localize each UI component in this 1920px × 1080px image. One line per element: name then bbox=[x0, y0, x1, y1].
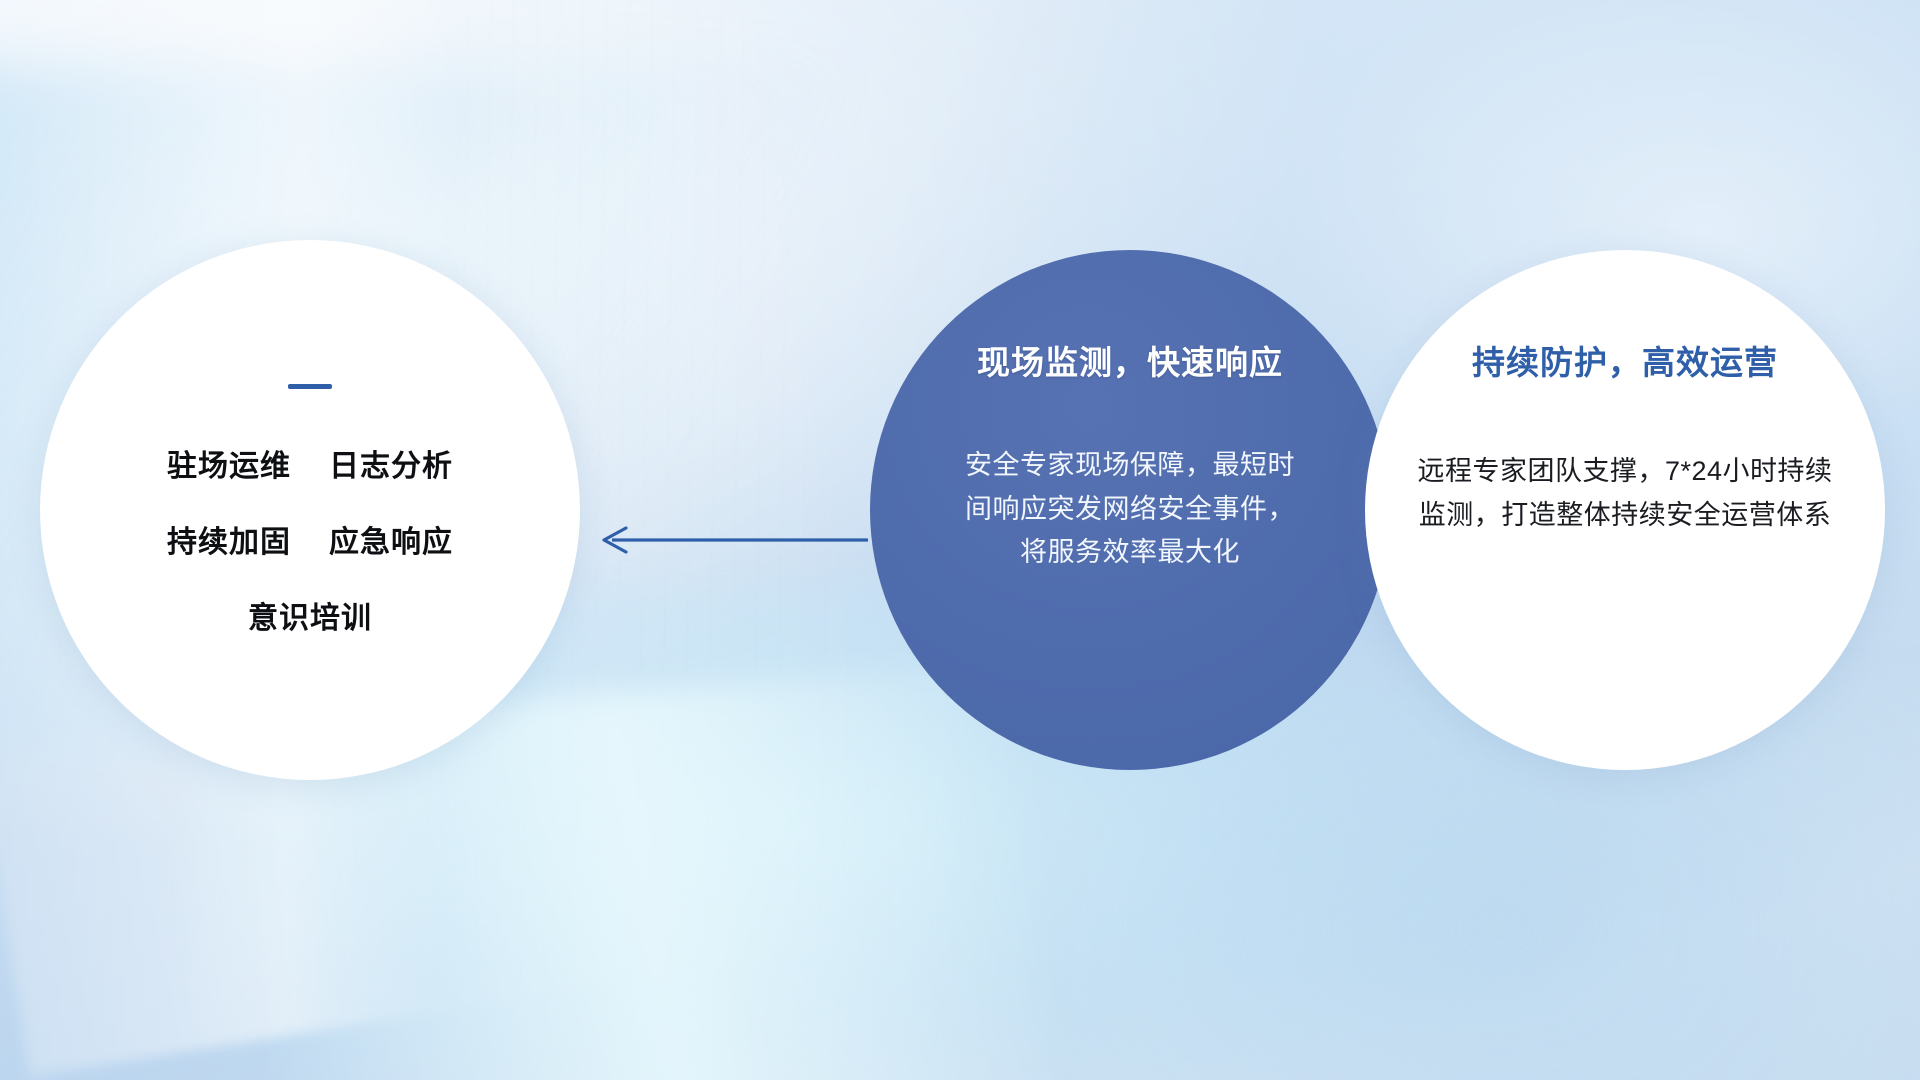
center-circle-body: 安全专家现场保障，最短时间响应突发网络安全事件，将服务效率最大化 bbox=[965, 444, 1295, 575]
keyword-item: 意识培训 bbox=[248, 593, 372, 637]
keyword-item: 应急响应 bbox=[329, 517, 453, 561]
keyword-row: 意识培训 bbox=[248, 593, 372, 637]
right-circle-body: 远程专家团队支撑，7*24小时持续监测，打造整体持续安全运营体系 bbox=[1415, 450, 1835, 537]
keyword-row: 驻场运维 日志分析 bbox=[167, 441, 453, 485]
diagram-stage: 驻场运维 日志分析 持续加固 应急响应 意识培训 现场监测，快速响应 安全专家现… bbox=[0, 0, 1920, 1080]
keyword-row: 持续加固 应急响应 bbox=[167, 517, 453, 561]
keyword-item: 驻场运维 bbox=[167, 441, 291, 485]
center-circle-onsite-monitoring: 现场监测，快速响应 安全专家现场保障，最短时间响应突发网络安全事件，将服务效率最… bbox=[870, 250, 1390, 770]
right-circle-continuous-protection: 持续防护，高效运营 远程专家团队支撑，7*24小时持续监测，打造整体持续安全运营… bbox=[1365, 250, 1885, 770]
arrow-left-icon bbox=[590, 522, 870, 558]
divider-dash bbox=[288, 384, 332, 389]
keyword-item: 持续加固 bbox=[167, 517, 291, 561]
left-circle-keywords: 驻场运维 日志分析 持续加固 应急响应 意识培训 bbox=[40, 240, 580, 780]
center-circle-title: 现场监测，快速响应 bbox=[977, 336, 1283, 384]
keyword-list: 驻场运维 日志分析 持续加固 应急响应 意识培训 bbox=[167, 441, 453, 637]
right-circle-title: 持续防护，高效运营 bbox=[1472, 336, 1778, 384]
keyword-item: 日志分析 bbox=[329, 441, 453, 485]
